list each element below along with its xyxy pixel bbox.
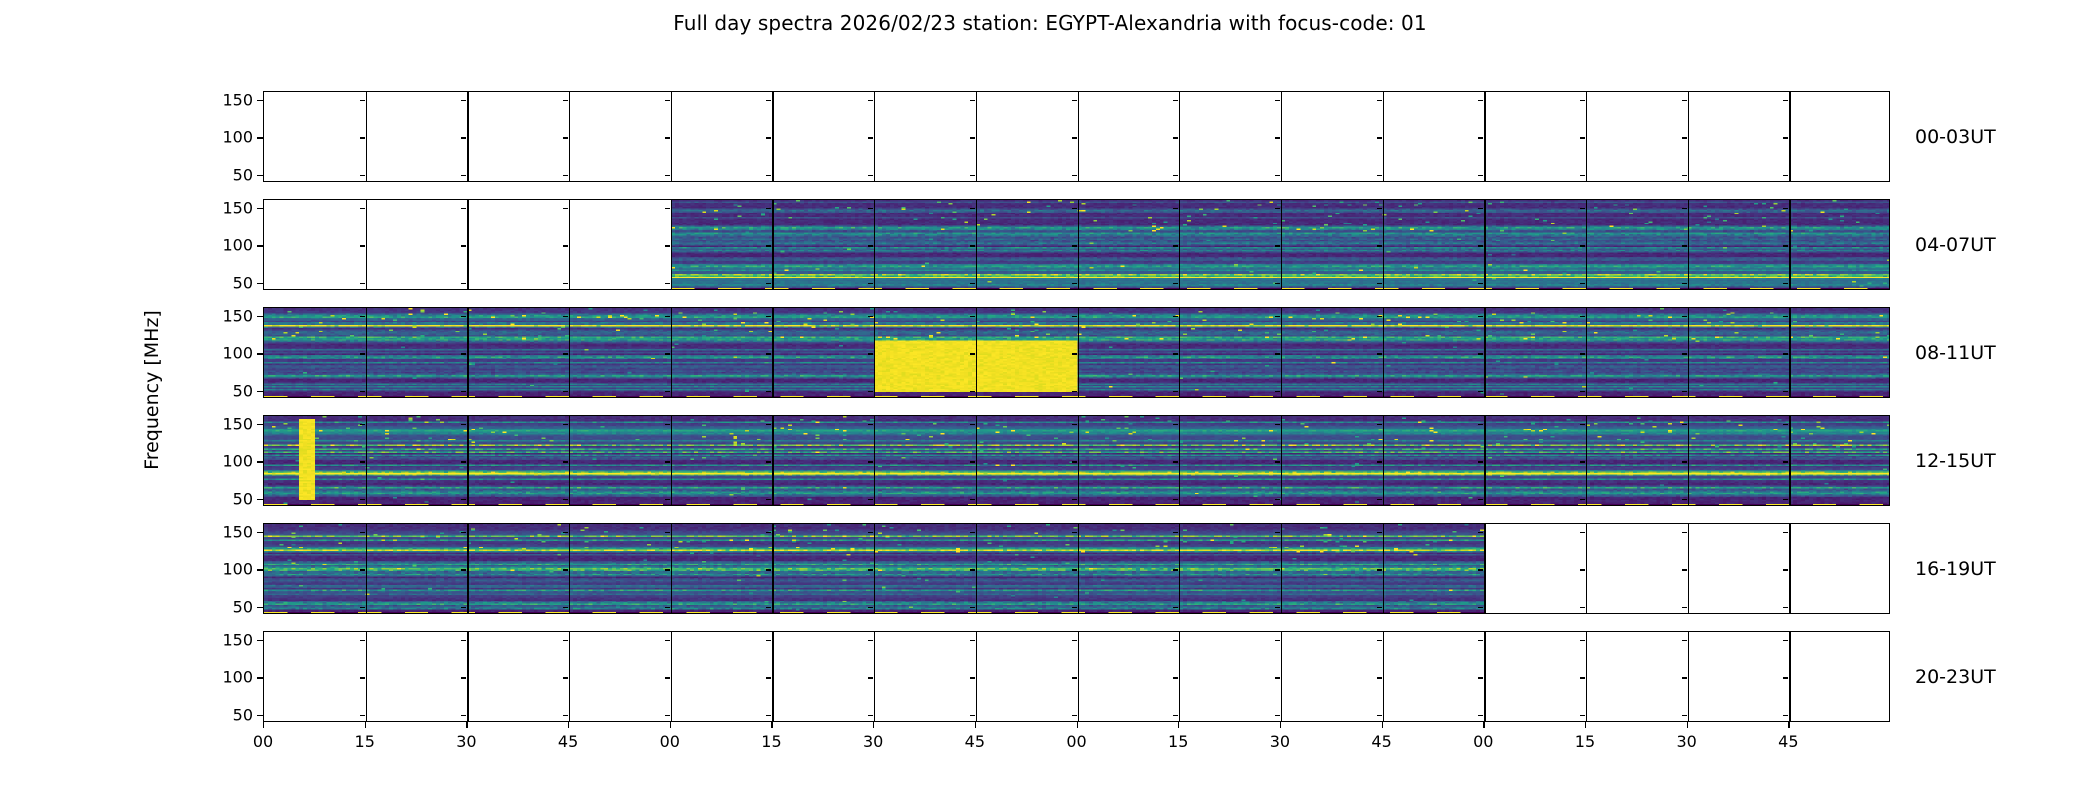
y-tick-mark (257, 391, 263, 392)
y-tick-mark-inner (1377, 100, 1382, 101)
y-tick-mark-inner (1783, 424, 1788, 425)
y-tick-label: 50 (193, 489, 253, 508)
column-separator (1484, 524, 1485, 613)
column-separator (671, 92, 672, 181)
y-tick-mark (257, 607, 263, 608)
y-tick-mark-inner (1682, 283, 1687, 284)
y-tick-mark-inner (665, 391, 670, 392)
y-tick-mark-inner (360, 137, 365, 138)
column-separator (366, 308, 367, 397)
x-tick-mark (568, 722, 569, 728)
y-tick-mark-inner (461, 677, 466, 678)
y-tick-mark-inner (1478, 640, 1483, 641)
y-tick-mark-inner (1173, 715, 1178, 716)
y-tick-mark-inner (563, 607, 568, 608)
spectrogram-row-12-15ut (263, 415, 1890, 506)
y-tick-mark-inner (1377, 245, 1382, 246)
y-tick-mark-inner (1173, 424, 1178, 425)
column-separator (1078, 416, 1079, 505)
y-tick-mark-inner (461, 100, 466, 101)
column-separator (874, 632, 875, 721)
column-separator (1484, 632, 1485, 721)
y-tick-mark-inner (665, 715, 670, 716)
y-tick-mark-inner (1580, 175, 1585, 176)
y-tick-label: 100 (193, 668, 253, 687)
y-tick-mark-inner (665, 175, 670, 176)
y-tick-label: 100 (193, 452, 253, 471)
y-tick-mark-inner (1580, 715, 1585, 716)
y-tick-mark-inner (1682, 175, 1687, 176)
y-tick-mark-inner (766, 137, 771, 138)
y-tick-mark-inner (665, 424, 670, 425)
y-tick-mark-inner (1580, 245, 1585, 246)
y-tick-mark-inner (1478, 137, 1483, 138)
y-tick-mark-inner (1377, 316, 1382, 317)
y-tick-mark-inner (665, 283, 670, 284)
y-tick-mark-inner (1580, 569, 1585, 570)
y-tick-mark-inner (970, 175, 975, 176)
y-tick-mark-inner (1580, 461, 1585, 462)
y-tick-mark (257, 137, 263, 138)
y-tick-mark-inner (1580, 640, 1585, 641)
y-tick-mark-inner (665, 208, 670, 209)
y-tick-mark-inner (766, 316, 771, 317)
row-label-00-03ut: 00-03UT (1915, 126, 1996, 148)
y-tick-mark-inner (1275, 391, 1280, 392)
x-tick-label: 00 (660, 732, 680, 751)
y-tick-mark-inner (360, 569, 365, 570)
axes-20-23ut[interactable] (263, 631, 1890, 722)
y-tick-mark-inner (563, 175, 568, 176)
y-tick-mark-inner (461, 461, 466, 462)
y-tick-mark-inner (461, 640, 466, 641)
y-tick-label: 150 (193, 414, 253, 433)
column-separator (1586, 308, 1587, 397)
row-label-08-11ut: 08-11UT (1915, 342, 1996, 364)
y-tick-mark-inner (563, 391, 568, 392)
row-label-04-07ut: 04-07UT (1915, 234, 1996, 256)
y-tick-mark-inner (1072, 677, 1077, 678)
y-tick-label: 100 (193, 236, 253, 255)
y-tick-label: 150 (193, 198, 253, 217)
y-tick-mark-inner (461, 316, 466, 317)
y-tick-mark (257, 569, 263, 570)
column-separator (1586, 524, 1587, 613)
y-tick-mark-inner (1072, 175, 1077, 176)
y-tick-mark-inner (970, 353, 975, 354)
column-separator (874, 416, 875, 505)
y-tick-mark-inner (868, 499, 873, 500)
y-tick-mark-inner (665, 245, 670, 246)
column-separator (467, 416, 468, 505)
column-separator (1789, 92, 1790, 181)
y-tick-mark-inner (563, 100, 568, 101)
y-tick-mark-inner (1682, 245, 1687, 246)
spectrogram-row-04-07ut (263, 199, 1890, 290)
y-tick-label: 100 (193, 560, 253, 579)
y-tick-mark-inner (665, 607, 670, 608)
y-tick-mark-inner (1377, 424, 1382, 425)
y-tick-mark-inner (1783, 245, 1788, 246)
column-separator (569, 524, 570, 613)
y-tick-mark-inner (868, 532, 873, 533)
y-tick-mark-inner (360, 461, 365, 462)
y-tick-mark-inner (1275, 208, 1280, 209)
y-tick-label: 50 (193, 381, 253, 400)
y-tick-mark-inner (868, 461, 873, 462)
y-tick-mark-inner (1783, 461, 1788, 462)
x-tick-mark (873, 722, 874, 728)
axes-04-07ut[interactable] (263, 199, 1890, 290)
y-tick-mark-inner (1580, 607, 1585, 608)
y-tick-mark-inner (970, 137, 975, 138)
column-separator (1688, 416, 1689, 505)
x-tick-mark (1077, 722, 1078, 728)
y-tick-mark-inner (868, 208, 873, 209)
column-separator (1688, 524, 1689, 613)
y-tick-mark-inner (1072, 245, 1077, 246)
axes-16-19ut[interactable] (263, 523, 1890, 614)
y-tick-label: 50 (193, 597, 253, 616)
y-tick-mark (257, 532, 263, 533)
x-tick-label: 30 (1270, 732, 1290, 751)
y-tick-mark-inner (868, 283, 873, 284)
y-tick-mark (257, 175, 263, 176)
column-separator (1789, 308, 1790, 397)
y-tick-mark-inner (1783, 607, 1788, 608)
column-separator (976, 200, 977, 289)
y-tick-mark-inner (766, 499, 771, 500)
x-tick-label: 30 (863, 732, 883, 751)
y-tick-mark (257, 283, 263, 284)
y-tick-mark-inner (1275, 499, 1280, 500)
y-tick-mark-inner (868, 353, 873, 354)
y-tick-mark-inner (1783, 569, 1788, 570)
y-tick-mark-inner (1682, 499, 1687, 500)
figure-title: Full day spectra 2026/02/23 station: EGY… (0, 11, 2100, 35)
column-separator (1179, 92, 1180, 181)
y-tick-mark-inner (665, 137, 670, 138)
y-tick-mark-inner (665, 353, 670, 354)
x-tick-label: 00 (1473, 732, 1493, 751)
column-separator (467, 632, 468, 721)
column-separator (1383, 200, 1384, 289)
y-tick-mark-inner (1580, 208, 1585, 209)
y-tick-label: 150 (193, 630, 253, 649)
x-tick-mark (466, 722, 467, 728)
column-separator (366, 92, 367, 181)
y-tick-mark-inner (1580, 316, 1585, 317)
y-tick-mark-inner (766, 607, 771, 608)
y-tick-mark-inner (1072, 424, 1077, 425)
x-tick-label: 15 (1575, 732, 1595, 751)
y-tick-mark-inner (1377, 499, 1382, 500)
y-tick-mark-inner (1783, 100, 1788, 101)
y-tick-mark-inner (1173, 316, 1178, 317)
y-tick-mark-inner (1783, 391, 1788, 392)
y-tick-mark-inner (1682, 391, 1687, 392)
x-tick-label: 45 (1778, 732, 1798, 751)
y-tick-mark-inner (665, 461, 670, 462)
y-tick-mark-inner (1478, 461, 1483, 462)
y-tick-mark-inner (1478, 607, 1483, 608)
y-tick-mark-inner (665, 100, 670, 101)
x-tick-mark (1178, 722, 1179, 728)
column-separator (671, 632, 672, 721)
y-tick-mark-inner (1275, 461, 1280, 462)
y-tick-mark-inner (1072, 100, 1077, 101)
x-tick-label: 00 (253, 732, 273, 751)
column-separator (671, 524, 672, 613)
axes-12-15ut[interactable] (263, 415, 1890, 506)
y-tick-mark-inner (766, 569, 771, 570)
y-tick-mark-inner (360, 208, 365, 209)
y-tick-mark-inner (1173, 283, 1178, 284)
x-tick-label: 15 (355, 732, 375, 751)
y-tick-mark-inner (461, 245, 466, 246)
column-separator (976, 416, 977, 505)
y-tick-mark-inner (1783, 532, 1788, 533)
y-tick-mark-inner (461, 137, 466, 138)
x-tick-label: 15 (1168, 732, 1188, 751)
y-tick-mark-inner (1275, 175, 1280, 176)
axes-08-11ut[interactable] (263, 307, 1890, 398)
y-tick-mark-inner (970, 499, 975, 500)
y-tick-mark-inner (1478, 715, 1483, 716)
y-tick-mark-inner (970, 283, 975, 284)
y-tick-mark-inner (868, 607, 873, 608)
column-separator (976, 632, 977, 721)
column-separator (1789, 524, 1790, 613)
y-tick-mark-inner (970, 245, 975, 246)
y-tick-mark-inner (766, 715, 771, 716)
column-separator (1484, 92, 1485, 181)
column-separator (976, 92, 977, 181)
y-tick-mark-inner (1275, 532, 1280, 533)
column-separator (976, 308, 977, 397)
column-separator (569, 632, 570, 721)
y-tick-mark-inner (461, 208, 466, 209)
column-separator (1688, 200, 1689, 289)
y-tick-mark-inner (563, 532, 568, 533)
y-tick-mark-inner (1377, 208, 1382, 209)
y-tick-mark-inner (461, 353, 466, 354)
y-tick-mark-inner (665, 532, 670, 533)
y-tick-mark-inner (970, 461, 975, 462)
y-tick-mark (257, 316, 263, 317)
y-tick-mark-inner (1173, 391, 1178, 392)
y-tick-mark (257, 640, 263, 641)
y-tick-mark-inner (1783, 499, 1788, 500)
y-tick-mark-inner (868, 175, 873, 176)
y-tick-label: 150 (193, 306, 253, 325)
column-separator (1484, 416, 1485, 505)
y-tick-mark-inner (1580, 137, 1585, 138)
y-tick-mark-inner (868, 569, 873, 570)
column-separator (1383, 92, 1384, 181)
y-tick-mark-inner (1173, 353, 1178, 354)
y-tick-mark-inner (1275, 569, 1280, 570)
y-tick-mark-inner (1173, 677, 1178, 678)
y-tick-mark-inner (766, 208, 771, 209)
column-separator (772, 308, 773, 397)
y-tick-mark-inner (1580, 353, 1585, 354)
y-tick-label: 50 (193, 165, 253, 184)
x-tick-mark (263, 722, 264, 728)
y-tick-mark-inner (970, 715, 975, 716)
y-tick-mark-inner (1072, 391, 1077, 392)
y-tick-mark-inner (1478, 353, 1483, 354)
column-separator (1484, 200, 1485, 289)
column-separator (467, 92, 468, 181)
y-tick-mark-inner (1377, 532, 1382, 533)
x-tick-label: 30 (1676, 732, 1696, 751)
y-tick-mark-inner (461, 424, 466, 425)
y-tick-mark-inner (563, 677, 568, 678)
column-separator (467, 308, 468, 397)
column-separator (1078, 308, 1079, 397)
row-label-16-19ut: 16-19UT (1915, 558, 1996, 580)
column-separator (772, 416, 773, 505)
y-tick-mark-inner (868, 100, 873, 101)
y-tick-mark-inner (563, 461, 568, 462)
column-separator (1383, 416, 1384, 505)
y-tick-mark-inner (1682, 461, 1687, 462)
y-tick-mark-inner (970, 208, 975, 209)
y-tick-mark-inner (1478, 100, 1483, 101)
y-tick-mark-inner (563, 569, 568, 570)
y-tick-mark-inner (1783, 715, 1788, 716)
y-tick-mark-inner (461, 391, 466, 392)
y-tick-mark-inner (1580, 424, 1585, 425)
y-tick-mark-inner (1173, 245, 1178, 246)
y-tick-mark-inner (1072, 499, 1077, 500)
column-separator (1688, 632, 1689, 721)
column-separator (1586, 416, 1587, 505)
y-tick-mark-inner (1173, 569, 1178, 570)
y-tick-mark-inner (1275, 245, 1280, 246)
y-tick-mark-inner (563, 424, 568, 425)
y-tick-mark-inner (1478, 677, 1483, 678)
y-tick-mark-inner (360, 677, 365, 678)
y-tick-mark-inner (1580, 283, 1585, 284)
y-tick-mark-inner (1173, 499, 1178, 500)
y-tick-mark-inner (1478, 208, 1483, 209)
y-tick-mark-inner (1275, 640, 1280, 641)
y-tick-mark-inner (1275, 100, 1280, 101)
y-tick-mark-inner (1478, 283, 1483, 284)
column-separator (1179, 200, 1180, 289)
y-tick-mark-inner (970, 100, 975, 101)
y-tick-mark-inner (665, 569, 670, 570)
y-tick-label: 50 (193, 273, 253, 292)
y-tick-mark-inner (1072, 461, 1077, 462)
y-tick-mark-inner (1783, 353, 1788, 354)
y-tick-mark-inner (461, 499, 466, 500)
y-tick-mark-inner (1173, 461, 1178, 462)
y-tick-label: 100 (193, 344, 253, 363)
column-separator (1078, 524, 1079, 613)
x-tick-mark (975, 722, 976, 728)
y-tick-label: 50 (193, 705, 253, 724)
y-tick-mark-inner (1275, 316, 1280, 317)
y-tick-mark-inner (360, 175, 365, 176)
column-separator (1383, 308, 1384, 397)
y-tick-mark-inner (1478, 424, 1483, 425)
y-tick-mark-inner (868, 715, 873, 716)
column-separator (1078, 200, 1079, 289)
y-tick-mark-inner (1377, 715, 1382, 716)
column-separator (1281, 632, 1282, 721)
column-separator (1789, 416, 1790, 505)
spectrogram-figure: Full day spectra 2026/02/23 station: EGY… (0, 0, 2100, 800)
column-separator (1179, 416, 1180, 505)
y-tick-mark-inner (360, 245, 365, 246)
y-tick-mark-inner (360, 424, 365, 425)
y-tick-mark-inner (1377, 137, 1382, 138)
y-tick-mark (257, 245, 263, 246)
y-tick-mark-inner (1783, 283, 1788, 284)
y-tick-mark (257, 461, 263, 462)
y-tick-mark-inner (766, 353, 771, 354)
y-tick-mark-inner (1377, 283, 1382, 284)
column-separator (1383, 524, 1384, 613)
y-tick-mark-inner (766, 640, 771, 641)
y-tick-mark-inner (563, 640, 568, 641)
y-tick-mark-inner (1478, 391, 1483, 392)
y-tick-mark-inner (563, 499, 568, 500)
column-separator (772, 524, 773, 613)
y-tick-mark-inner (360, 100, 365, 101)
y-tick-mark-inner (1682, 208, 1687, 209)
column-separator (1281, 524, 1282, 613)
column-separator (1281, 416, 1282, 505)
y-tick-mark-inner (1580, 391, 1585, 392)
y-tick-mark-inner (1275, 677, 1280, 678)
x-tick-mark (1280, 722, 1281, 728)
y-tick-mark-inner (1478, 499, 1483, 500)
y-tick-mark-inner (1275, 424, 1280, 425)
axes-00-03ut[interactable] (263, 91, 1890, 182)
x-tick-mark (1382, 722, 1383, 728)
y-tick-mark-inner (461, 569, 466, 570)
y-tick-mark-inner (1173, 175, 1178, 176)
column-separator (1078, 632, 1079, 721)
column-separator (976, 524, 977, 613)
column-separator (1281, 200, 1282, 289)
column-separator (772, 632, 773, 721)
y-tick-mark-inner (1377, 569, 1382, 570)
y-tick-mark (257, 208, 263, 209)
y-tick-mark-inner (970, 391, 975, 392)
y-tick-mark-inner (868, 316, 873, 317)
y-tick-mark-inner (360, 353, 365, 354)
column-separator (1586, 92, 1587, 181)
spectrogram-row-16-19ut (263, 523, 1890, 614)
y-tick-mark-inner (360, 283, 365, 284)
y-tick-mark (257, 424, 263, 425)
column-separator (874, 524, 875, 613)
x-tick-label: 45 (965, 732, 985, 751)
y-tick-mark (257, 353, 263, 354)
y-tick-mark-inner (1173, 100, 1178, 101)
y-tick-mark-inner (1072, 137, 1077, 138)
y-tick-mark-inner (1377, 640, 1382, 641)
column-separator (467, 524, 468, 613)
x-tick-label: 45 (558, 732, 578, 751)
y-tick-mark-inner (1377, 607, 1382, 608)
y-tick-mark-inner (461, 283, 466, 284)
